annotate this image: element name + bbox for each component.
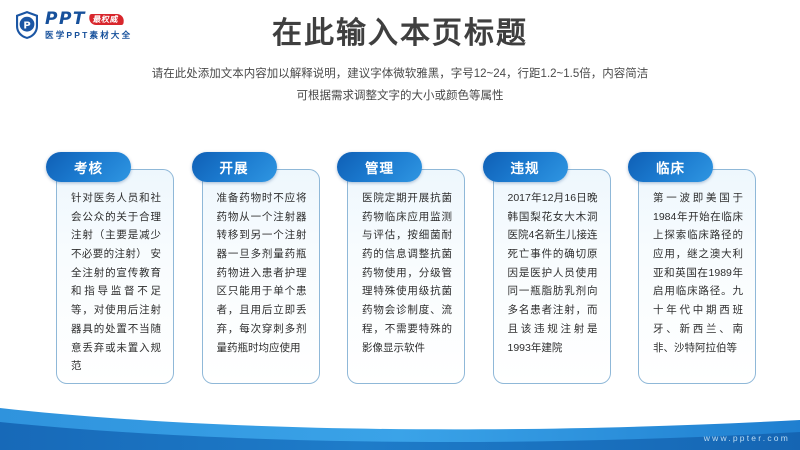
card-badge[interactable]: 管理	[337, 152, 422, 182]
card-badge[interactable]: 违规	[483, 152, 568, 182]
card-badge[interactable]: 开展	[192, 152, 277, 182]
subtitle-line-2: 可根据需求调整文字的大小或颜色等属性	[0, 85, 800, 107]
wave-decoration	[0, 380, 800, 450]
card-badge[interactable]: 临床	[628, 152, 713, 182]
card-body-text: 针对医务人员和社会公众的关于合理注射（主要是减少不必要的注射） 安全注射的宣传教…	[64, 185, 168, 377]
subtitle-line-1: 请在此处添加文本内容加以解释说明，建议字体微软雅黑，字号12~24，行距1.2~…	[0, 63, 800, 85]
info-card[interactable]: 考核 针对医务人员和社会公众的关于合理注射（主要是减少不必要的注射） 安全注射的…	[46, 152, 176, 387]
card-body-text: 第一波即美国于1984年开始在临床上探索临床路径的应用，继之澳大利亚和英国在19…	[646, 185, 750, 377]
card-body-text: 2017年12月16日晚韩国梨花女大木洞医院4名新生儿接连死亡事件的确切原因是医…	[501, 185, 605, 377]
page-subtitle: 请在此处添加文本内容加以解释说明，建议字体微软雅黑，字号12~24，行距1.2~…	[0, 63, 800, 108]
card-badge[interactable]: 考核	[46, 152, 131, 182]
site-watermark: www.ppter.com	[704, 433, 790, 443]
card-row: 考核 针对医务人员和社会公众的关于合理注射（主要是减少不必要的注射） 安全注射的…	[46, 152, 758, 387]
page-title: 在此输入本页标题	[0, 16, 800, 52]
card-body-text: 医院定期开展抗菌药物临床应用监测与评估，按细菌耐药的信息调整抗菌药物使用，分级管…	[355, 185, 459, 377]
card-body-text: 准备药物时不应将药物从一个注射器转移到另一个注射器一旦多剂量药瓶药物进入患者护理…	[210, 185, 314, 377]
slide-canvas: P PPT 最权威 医学PPT素材大全 在此输入本页标题 请在此处添加文本内容加…	[0, 0, 800, 450]
info-card[interactable]: 违规 2017年12月16日晚韩国梨花女大木洞医院4名新生儿接连死亡事件的确切原…	[483, 152, 613, 387]
info-card[interactable]: 开展 准备药物时不应将药物从一个注射器转移到另一个注射器一旦多剂量药瓶药物进入患…	[192, 152, 322, 387]
info-card[interactable]: 临床 第一波即美国于1984年开始在临床上探索临床路径的应用，继之澳大利亚和英国…	[628, 152, 758, 387]
info-card[interactable]: 管理 医院定期开展抗菌药物临床应用监测与评估，按细菌耐药的信息调整抗菌药物使用，…	[337, 152, 467, 387]
